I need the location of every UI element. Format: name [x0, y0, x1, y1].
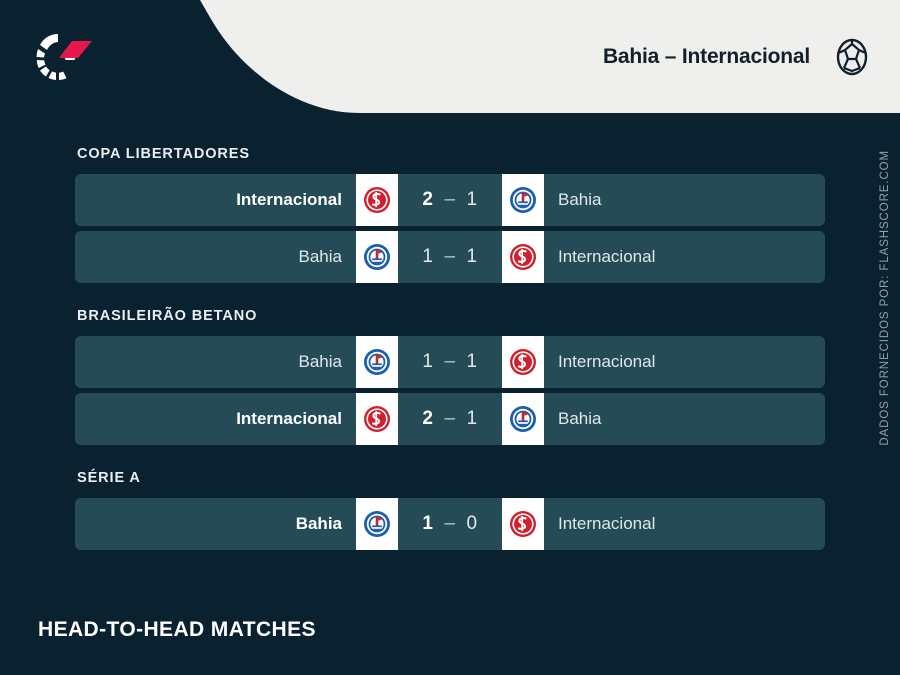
footer-title: HEAD-TO-HEAD MATCHES — [38, 618, 316, 642]
page-title: Bahia – Internacional — [603, 45, 810, 69]
soccer-ball-icon — [832, 37, 872, 77]
page-footer: HEAD-TO-HEAD MATCHES — [0, 585, 900, 675]
match-score: 1–1 — [398, 336, 502, 388]
away-score: 0 — [467, 513, 478, 535]
bahia-crest-icon — [356, 336, 398, 388]
away-score: 1 — [467, 351, 478, 373]
page-header: Bahia – Internacional — [0, 0, 900, 118]
away-team-name: Internacional — [544, 498, 825, 550]
competition-title: SÉRIE A — [75, 450, 825, 498]
match-row[interactable]: Bahia1–1Internacional — [75, 231, 825, 283]
data-provider-credit-text: DADOS FORNECIDOS POR: FLASHSCORE.COM — [879, 150, 891, 446]
bahia-crest-icon — [502, 393, 544, 445]
bahia-crest-icon — [356, 498, 398, 550]
home-score: 1 — [422, 351, 433, 373]
score-separator: – — [444, 408, 455, 430]
home-team-name: Bahia — [75, 498, 356, 550]
score-separator: – — [444, 246, 455, 268]
match-row[interactable]: Internacional2–1Bahia — [75, 174, 825, 226]
home-team-name: Bahia — [75, 336, 356, 388]
home-team-name: Internacional — [75, 174, 356, 226]
away-team-name: Internacional — [544, 231, 825, 283]
flashscore-logo-icon[interactable] — [28, 28, 96, 84]
away-team-name: Bahia — [544, 393, 825, 445]
away-team-name: Internacional — [544, 336, 825, 388]
internacional-crest-icon — [502, 231, 544, 283]
match-score: 1–0 — [398, 498, 502, 550]
away-score: 1 — [467, 246, 478, 268]
match-score: 2–1 — [398, 174, 502, 226]
score-separator: – — [444, 351, 455, 373]
home-team-name: Bahia — [75, 231, 356, 283]
home-score: 1 — [422, 513, 433, 535]
home-score: 2 — [422, 408, 433, 430]
internacional-crest-icon — [502, 498, 544, 550]
bahia-crest-icon — [502, 174, 544, 226]
match-score: 2–1 — [398, 393, 502, 445]
away-team-name: Bahia — [544, 174, 825, 226]
away-score: 1 — [467, 189, 478, 211]
internacional-crest-icon — [502, 336, 544, 388]
match-row[interactable]: Internacional2–1Bahia — [75, 393, 825, 445]
competition-title: COPA LIBERTADORES — [75, 118, 825, 174]
match-score: 1–1 — [398, 231, 502, 283]
home-team-name: Internacional — [75, 393, 356, 445]
match-row[interactable]: Bahia1–0Internacional — [75, 498, 825, 550]
competition-title: BRASILEIRÃO BETANO — [75, 288, 825, 336]
internacional-crest-icon — [356, 174, 398, 226]
header-match-info: Bahia – Internacional — [603, 0, 872, 113]
bahia-crest-icon — [356, 231, 398, 283]
score-separator: – — [444, 513, 455, 535]
away-score: 1 — [467, 408, 478, 430]
home-score: 1 — [422, 246, 433, 268]
match-row[interactable]: Bahia1–1Internacional — [75, 336, 825, 388]
home-score: 2 — [422, 189, 433, 211]
h2h-sections: COPA LIBERTADORESInternacional2–1BahiaBa… — [0, 118, 900, 550]
data-provider-credit: DADOS FORNECIDOS POR: FLASHSCORE.COM — [873, 150, 897, 530]
score-separator: – — [444, 189, 455, 211]
internacional-crest-icon — [356, 393, 398, 445]
